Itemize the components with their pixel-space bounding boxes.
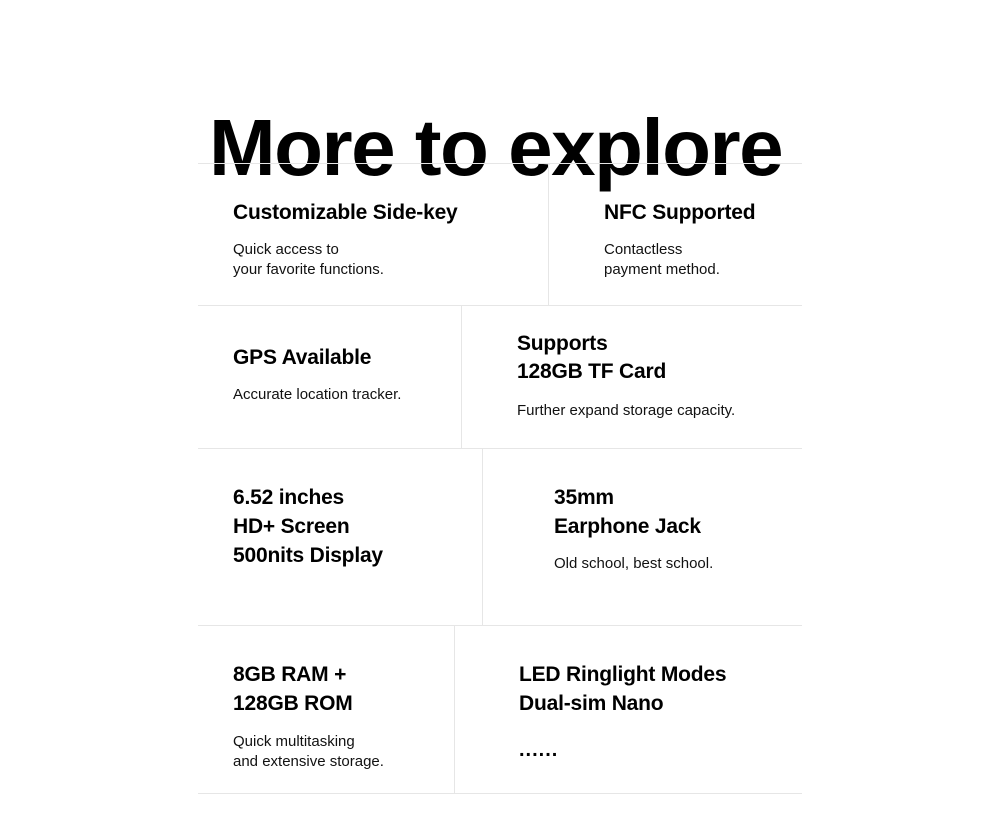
feature-description: Further expand storage capacity. [517,401,797,421]
feature-title: GPS Available [233,344,448,372]
feature-cell-earphone-jack: 35mm Earphone Jack Old school, best scho… [554,483,784,574]
feature-description: Contactless payment method. [604,240,804,280]
feature-title: Supports 128GB TF Card [517,330,797,386]
feature-description-ellipsis: ...... [519,740,789,760]
feature-cell-customizable-side-key: Customizable Side-key Quick access to yo… [233,199,533,280]
row-divider [454,626,455,793]
feature-description: Old school, best school. [554,554,784,574]
product-feature-page: More to explore Customizable Side-key Qu… [0,0,1000,839]
feature-cell-led-ringlight: LED Ringlight Modes Dual-sim Nano ...... [519,660,789,760]
feature-description: Quick access to your favorite functions. [233,240,533,280]
feature-title: NFC Supported [604,199,804,227]
feature-cell-display: 6.52 inches HD+ Screen 500nits Display [233,483,463,570]
row-divider [548,164,549,305]
row-divider [461,306,462,448]
feature-title: 35mm Earphone Jack [554,483,784,541]
feature-row: 6.52 inches HD+ Screen 500nits Display 3… [198,448,802,625]
feature-description: Quick multitasking and extensive storage… [233,732,443,772]
feature-grid: Customizable Side-key Quick access to yo… [198,163,802,794]
feature-cell-supports-tf-card: Supports 128GB TF Card Further expand st… [517,330,797,421]
feature-row: 8GB RAM + 128GB ROM Quick multitasking a… [198,625,802,794]
feature-cell-gps-available: GPS Available Accurate location tracker. [233,344,448,405]
feature-cell-memory: 8GB RAM + 128GB ROM Quick multitasking a… [233,660,443,772]
feature-description: Accurate location tracker. [233,385,448,405]
feature-row: Customizable Side-key Quick access to yo… [198,163,802,305]
feature-title: LED Ringlight Modes Dual-sim Nano [519,660,789,718]
feature-title: 8GB RAM + 128GB ROM [233,660,443,718]
feature-title: Customizable Side-key [233,199,533,227]
feature-row: GPS Available Accurate location tracker.… [198,305,802,448]
feature-cell-nfc-supported: NFC Supported Contactless payment method… [604,199,804,280]
row-divider [482,449,483,625]
feature-title: 6.52 inches HD+ Screen 500nits Display [233,483,463,570]
